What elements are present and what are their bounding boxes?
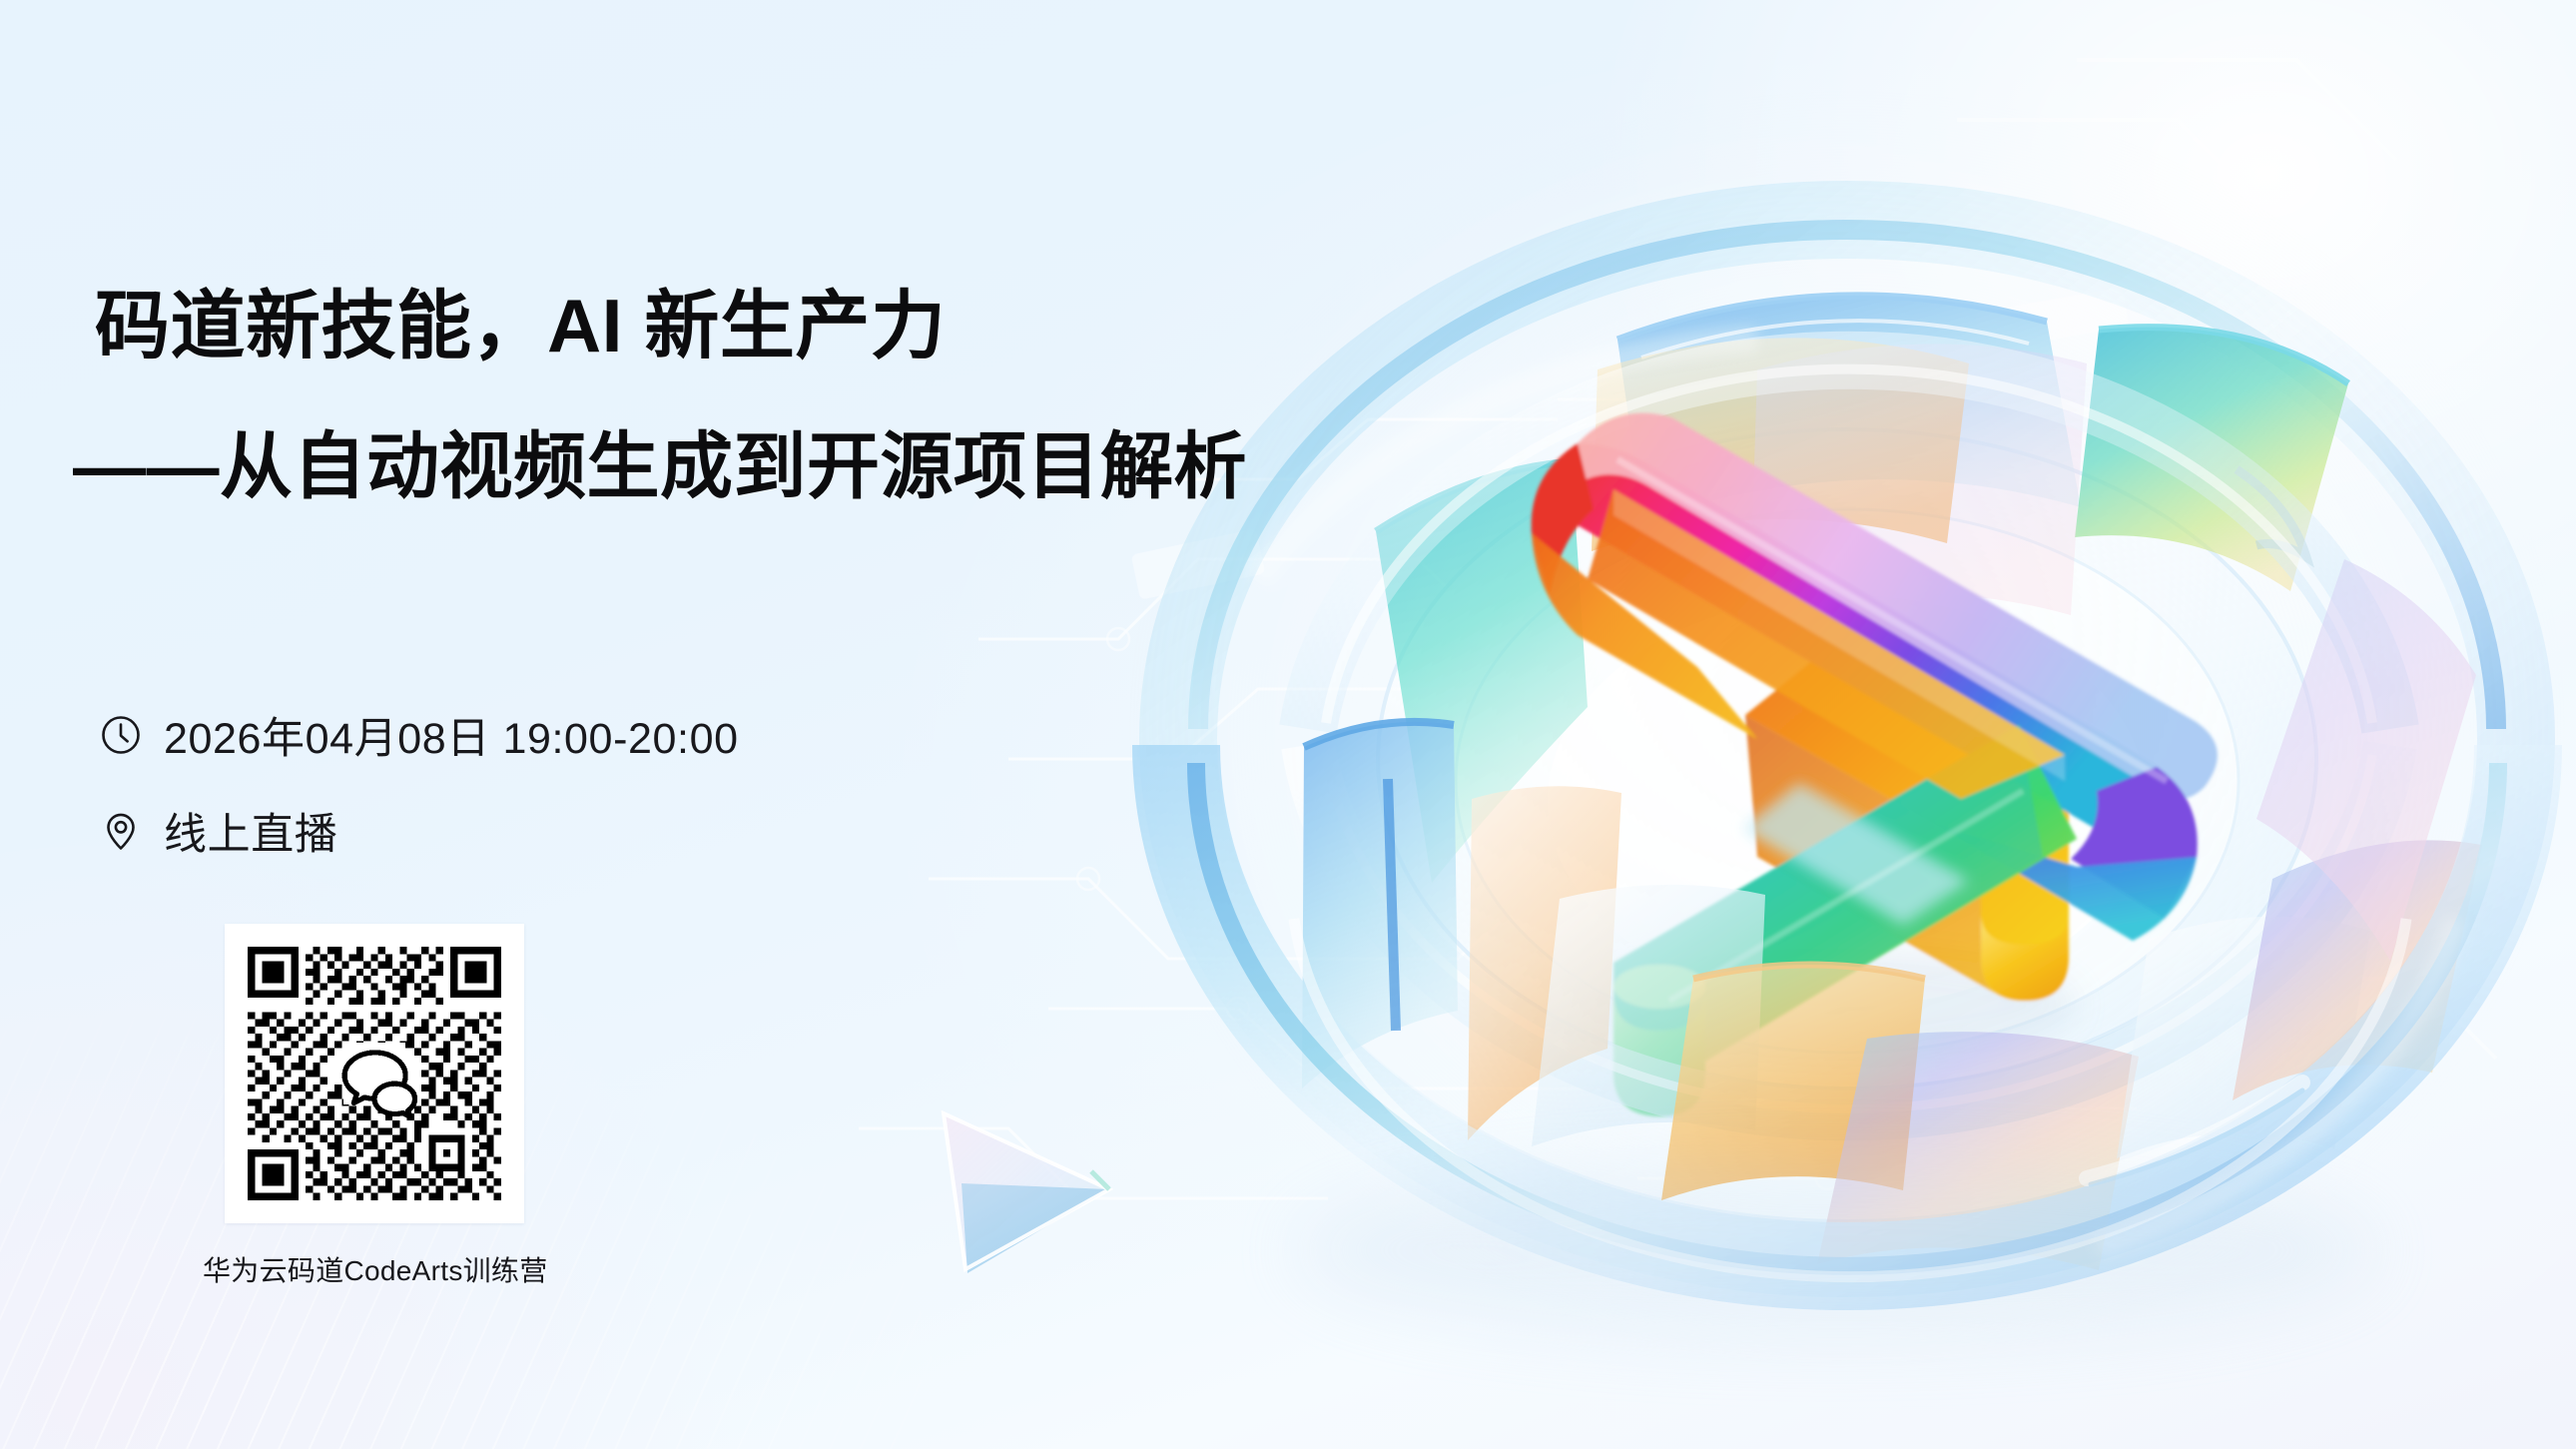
clock-icon (100, 714, 142, 756)
event-datetime-row: 2026年04月08日 19:00-20:00 (100, 704, 739, 766)
promo-banner: 码道新技能，AI 新生产力 ——从自动视频生成到开源项目解析 2026年04月0… (0, 0, 2576, 1449)
qr-code[interactable] (225, 924, 524, 1223)
event-datetime-text: 2026年04月08日 19:00-20:00 (164, 704, 739, 766)
event-location-row: 线上直播 (100, 800, 739, 862)
event-location-text: 线上直播 (164, 800, 337, 862)
location-pin-icon (100, 810, 142, 852)
headline-primary: 码道新技能，AI 新生产力 (95, 288, 1333, 364)
qr-block: 华为云码道CodeArts训练营 (225, 924, 524, 1289)
event-meta: 2026年04月08日 19:00-20:00 线上直播 (100, 704, 739, 896)
qr-matrix (241, 940, 508, 1207)
title-block: 码道新技能，AI 新生产力 ——从自动视频生成到开源项目解析 (95, 288, 1333, 504)
qr-caption: 华为云码道CodeArts训练营 (203, 1249, 502, 1289)
headline-subtitle: ——从自动视频生成到开源项目解析 (73, 430, 1333, 504)
content-column: 码道新技能，AI 新生产力 ——从自动视频生成到开源项目解析 2026年04月0… (95, 0, 1343, 1449)
